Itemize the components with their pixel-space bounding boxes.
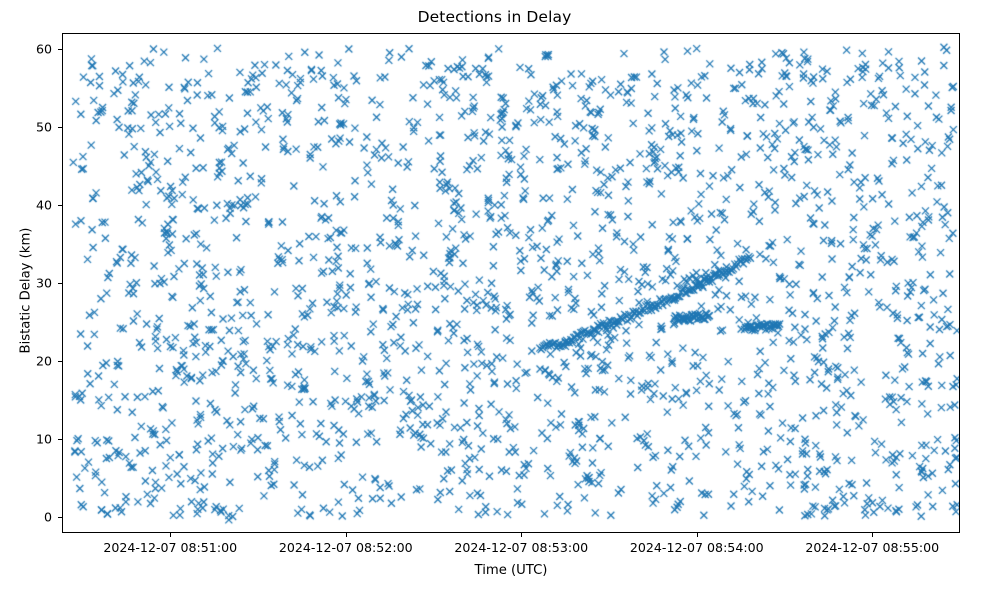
x-tick-label: 2024-12-07 08:53:00 <box>454 540 588 555</box>
x-tick-mark <box>872 533 873 537</box>
x-tick-mark <box>521 533 522 537</box>
y-tick-mark <box>58 361 62 362</box>
plot-axes-area <box>62 33 960 533</box>
chart-title: Detections in Delay <box>0 8 989 26</box>
scatter-plot-canvas <box>63 34 960 533</box>
matplotlib-figure: Detections in Delay 2024-12-07 08:51:002… <box>0 0 989 590</box>
y-tick-label: 0 <box>0 510 52 525</box>
x-tick-mark <box>170 533 171 537</box>
x-tick-label: 2024-12-07 08:54:00 <box>630 540 764 555</box>
y-tick-mark <box>58 283 62 284</box>
x-axis-label: Time (UTC) <box>62 563 960 578</box>
x-tick-label: 2024-12-07 08:55:00 <box>805 540 939 555</box>
y-tick-label: 10 <box>0 432 52 447</box>
y-tick-mark <box>58 205 62 206</box>
y-tick-label: 50 <box>0 119 52 134</box>
y-axis-label: Bistatic Delay (km) <box>19 161 34 421</box>
y-tick-label: 60 <box>0 41 52 56</box>
x-tick-label: 2024-12-07 08:51:00 <box>103 540 237 555</box>
y-tick-mark <box>58 127 62 128</box>
x-tick-label: 2024-12-07 08:52:00 <box>279 540 413 555</box>
y-tick-mark <box>58 49 62 50</box>
x-tick-mark <box>697 533 698 537</box>
x-tick-mark <box>346 533 347 537</box>
y-tick-mark <box>58 439 62 440</box>
y-tick-mark <box>58 517 62 518</box>
